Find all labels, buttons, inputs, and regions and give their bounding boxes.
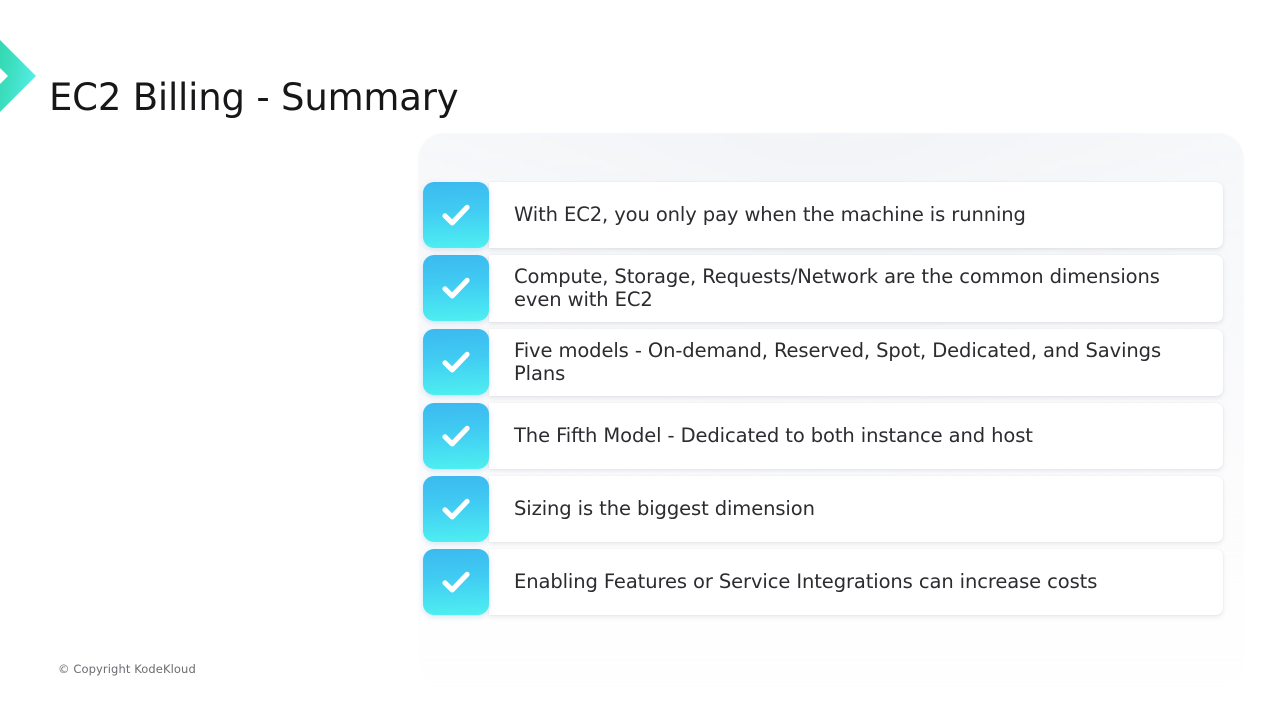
list-item-card: Compute, Storage, Requests/Network are t… bbox=[489, 255, 1223, 322]
list-item: With EC2, you only pay when the machine … bbox=[423, 182, 1223, 248]
copyright-notice: © Copyright KodeKloud bbox=[58, 662, 196, 676]
summary-checklist: With EC2, you only pay when the machine … bbox=[423, 182, 1223, 615]
list-item: The Fifth Model - Dedicated to both inst… bbox=[423, 403, 1223, 469]
page-title: EC2 Billing - Summary bbox=[49, 77, 458, 120]
check-icon bbox=[423, 255, 489, 321]
list-item-label: Compute, Storage, Requests/Network are t… bbox=[514, 265, 1205, 312]
list-item: Enabling Features or Service Integration… bbox=[423, 549, 1223, 615]
chevron-right-icon bbox=[0, 34, 42, 118]
check-icon bbox=[423, 549, 489, 615]
check-icon bbox=[423, 182, 489, 248]
list-item: Five models - On-demand, Reserved, Spot,… bbox=[423, 329, 1223, 396]
list-item-label: With EC2, you only pay when the machine … bbox=[514, 203, 1026, 226]
list-item-label: Five models - On-demand, Reserved, Spot,… bbox=[514, 339, 1205, 386]
list-item-card: Five models - On-demand, Reserved, Spot,… bbox=[489, 329, 1223, 396]
list-item-label: The Fifth Model - Dedicated to both inst… bbox=[514, 424, 1033, 447]
list-item: Compute, Storage, Requests/Network are t… bbox=[423, 255, 1223, 322]
list-item: Sizing is the biggest dimension bbox=[423, 476, 1223, 542]
check-icon bbox=[423, 476, 489, 542]
check-icon bbox=[423, 329, 489, 395]
list-item-card: Enabling Features or Service Integration… bbox=[489, 549, 1223, 615]
list-item-label: Enabling Features or Service Integration… bbox=[514, 570, 1097, 593]
list-item-card: The Fifth Model - Dedicated to both inst… bbox=[489, 403, 1223, 469]
list-item-card: Sizing is the biggest dimension bbox=[489, 476, 1223, 542]
list-item-card: With EC2, you only pay when the machine … bbox=[489, 182, 1223, 248]
list-item-label: Sizing is the biggest dimension bbox=[514, 497, 815, 520]
check-icon bbox=[423, 403, 489, 469]
